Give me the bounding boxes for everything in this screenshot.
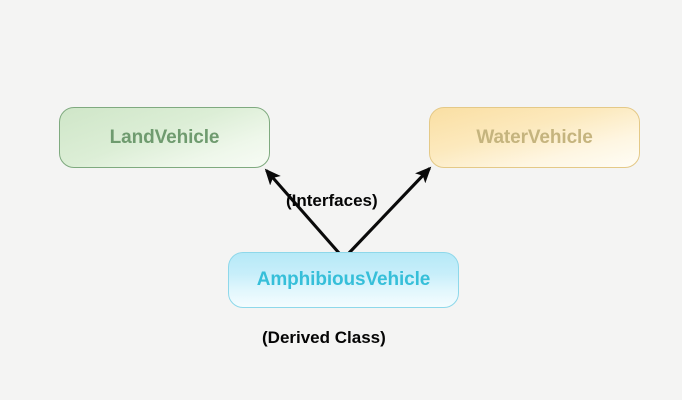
diagram-canvas: LandVehicle WaterVehicle AmphibiousVehic…	[0, 0, 682, 400]
edge-amphibious-to-land	[267, 171, 340, 254]
class-box-amphibiousvehicle-label: AmphibiousVehicle	[257, 269, 431, 291]
caption-derived-class: (Derived Class)	[262, 328, 386, 348]
class-box-watervehicle[interactable]: WaterVehicle	[429, 107, 640, 168]
caption-interfaces: (Interfaces)	[286, 191, 378, 211]
class-box-watervehicle-label: WaterVehicle	[476, 127, 592, 149]
class-box-amphibiousvehicle[interactable]: AmphibiousVehicle	[228, 252, 459, 308]
class-box-landvehicle-label: LandVehicle	[110, 127, 220, 149]
class-box-landvehicle[interactable]: LandVehicle	[59, 107, 270, 168]
